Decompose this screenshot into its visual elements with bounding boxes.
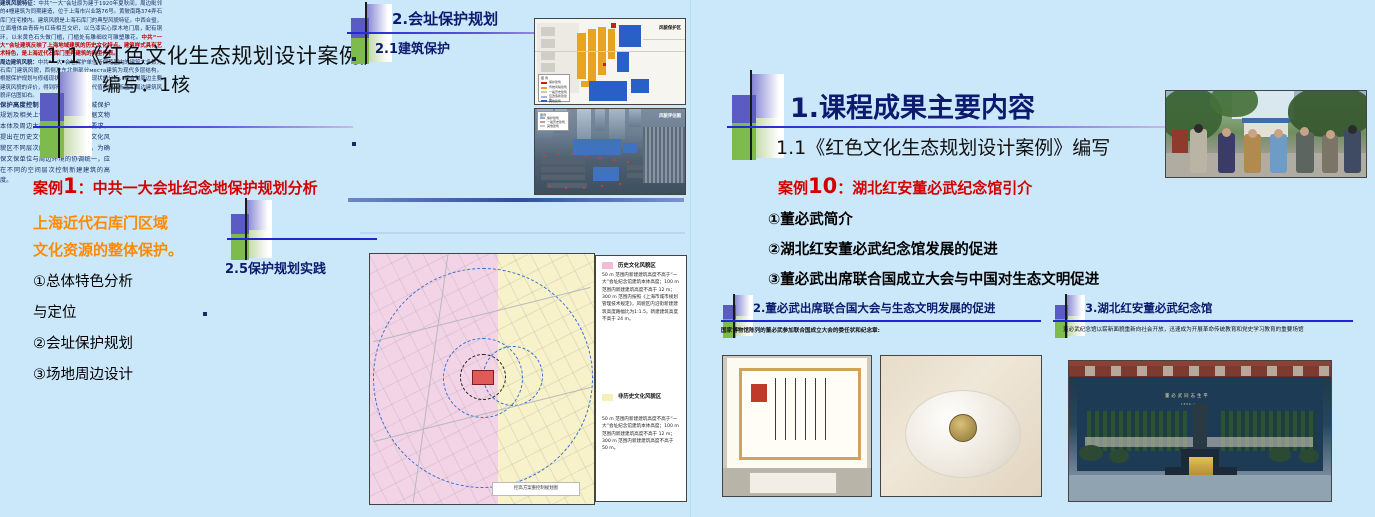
right-item-0: ①董必武简介: [768, 208, 853, 229]
mid-p2-label: 周边建筑风貌：: [0, 60, 38, 66]
memorial-wall-text: 董必武同志生平: [1165, 393, 1210, 399]
left-case-label: 案例: [33, 179, 63, 197]
plan-map-legend-item-1: 传统风貌建筑: [549, 85, 567, 89]
left-item-2: ②会址保护规划: [33, 332, 133, 353]
right-item-2: ③董必武出席联合国成立大会与中国对生态文明促进: [768, 268, 1099, 289]
mid-p1-label: 建筑风貌特征：: [0, 1, 38, 7]
slide-canvas: 1.1《红色文化生态规划设计案例》 编写：1核 案例1：中共一大会址纪念地保护规…: [0, 0, 1375, 517]
panel-divider: [690, 0, 691, 517]
left-case-colon: ：: [78, 179, 93, 197]
medal-photo-image: [880, 355, 1042, 497]
mid-section2-title: 2.5保护规划实践: [225, 258, 326, 277]
left-subtitle: 编写：1核: [102, 70, 190, 97]
block3-note: 董必武纪念馆以崭新面貌重新向社会开放，迅速成为开展革命传统教育和党史学习教育的重…: [1063, 326, 1353, 335]
plan-map-legend-title: 图 例: [541, 76, 548, 80]
right-case-number: 10: [808, 174, 837, 198]
plan-map-legend: 图 例 保护建筑 传统风貌建筑 一般历史建筑 应改造新建建筑 其他建筑: [538, 74, 570, 102]
plan-map-legend-item-2: 一般历史建筑: [549, 90, 567, 94]
right-case-heading: 案例10：湖北红安董必武纪念馆引介: [778, 174, 1032, 198]
block3-rule: [1053, 320, 1353, 322]
plan-map-tag: 风貌保护区: [659, 25, 681, 31]
right-sub-title: 1.1《红色文化生态规划设计案例》编写: [776, 133, 1110, 160]
left-case-heading: 案例1：中共一大会址纪念地保护规划分析: [33, 174, 318, 198]
decor-logo-left: [36, 68, 92, 158]
right-case-colon: ：: [837, 179, 852, 197]
left-highlight-2: 文化资源的整体保护。: [33, 239, 183, 260]
aerial-legend: 图例 保护建筑 一般历史建筑 其他建筑: [537, 111, 569, 131]
left-item-1: 与定位: [33, 301, 77, 322]
left-item-3: ③场地周边设计: [33, 363, 133, 384]
mid-bullet-3: [203, 312, 207, 316]
left-title: 1.1《红色文化生态规划设计案例》: [46, 40, 382, 70]
left-title-rule: [33, 126, 353, 128]
mid-faint-rule: [360, 232, 685, 234]
block2-note: 国家博物馆陈列的董必武参加联合国成立大会的委任状和纪念章:: [721, 327, 1041, 336]
legend-1-title: 非历史文化风貌区: [618, 393, 674, 401]
right-item-1: ②湖北红安董必武纪念馆发展的促进: [768, 238, 998, 259]
aerial-photo-tag: 风貌评估图: [659, 113, 681, 119]
aerial-photo-image: 图例 保护建筑 一般历史建筑 其他建筑 风貌评估图: [534, 108, 686, 195]
memorial-photo-image: 董必武同志生平 1886-1975: [1068, 360, 1332, 502]
block2-rule: [721, 320, 1041, 322]
left-item-0: ①总体特色分析: [33, 270, 133, 291]
mid-bullet-2: [352, 142, 356, 146]
group-photo-image: [1165, 90, 1367, 178]
legend-1-text: 50 m 范围内新建建筑高度不高于“一大”会址纪念馆建筑本体高度；100 m 范…: [602, 416, 680, 453]
certificate-photo-image: [722, 355, 872, 497]
decor-logo-mid-bottom: [228, 198, 272, 260]
left-case-number: 1: [63, 174, 78, 198]
block2-heading: 2.董必武出席联合国大会与生态文明发展的促进: [753, 300, 995, 316]
mid-thick-rule: [348, 198, 684, 202]
plan-map-legend-item-0: 保护建筑: [549, 80, 561, 84]
legend-0-title: 历史文化风貌区: [618, 261, 656, 269]
mid-bullet-1: [352, 57, 356, 61]
planning-map-caption: 控高方案重控制规划图: [492, 482, 580, 496]
plan-map-image: 图 例 保护建筑 传统风貌建筑 一般历史建筑 应改造新建建筑 其他建筑 风貌保护…: [534, 18, 686, 105]
planning-control-map: 控高方案重控制规划图: [369, 253, 595, 505]
right-case-text: 湖北红安董必武纪念馆引介: [852, 179, 1032, 197]
right-main-title: 1.课程成果主要内容: [790, 86, 1035, 125]
mid-sub-title: 2.1建筑保护: [375, 38, 450, 57]
mid-section2-rule: [227, 238, 377, 240]
plan-map-legend-item-4: 其他建筑: [549, 99, 561, 103]
left-case-text: 中共一大会址纪念地保护规划分析: [93, 179, 318, 197]
legend-0-text: 50 m 范围内新建建筑高度不高于“一大”会址纪念馆建筑本体高度；100 m 范…: [602, 272, 680, 323]
right-title-rule: [727, 126, 1167, 128]
right-case-label: 案例: [778, 179, 808, 197]
mid-section-title: 2.会址保护规划: [392, 8, 498, 29]
left-highlight-1: 上海近代石库门区域: [33, 212, 168, 233]
block3-heading: 3.湖北红安董必武纪念馆: [1085, 300, 1212, 316]
height-control-legend-panel: 历史文化风貌区 50 m 范围内新建建筑高度不高于“一大”会址纪念馆建筑本体高度…: [595, 255, 687, 502]
